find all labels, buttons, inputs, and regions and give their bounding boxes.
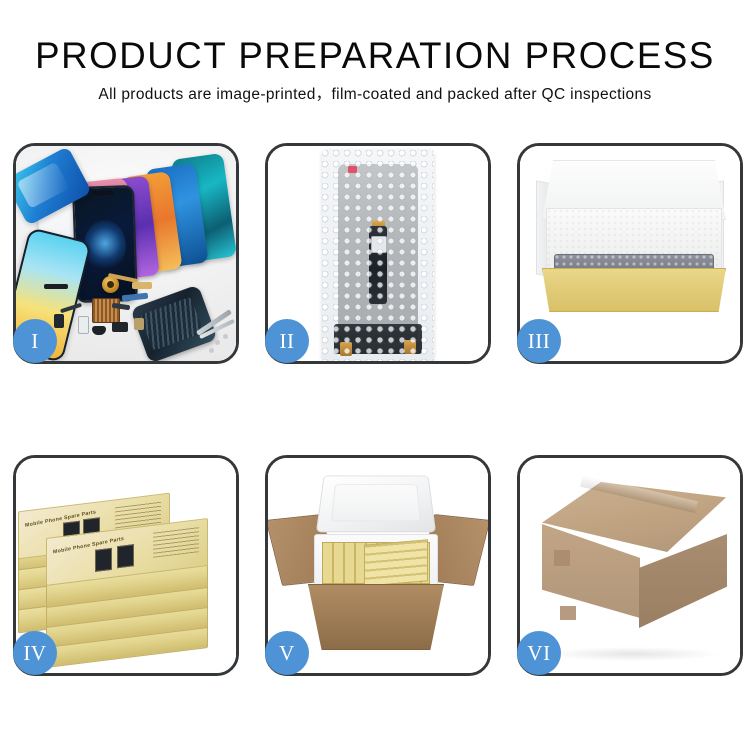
- box-print-label-front: Mobile Phone Spare Parts: [53, 536, 124, 556]
- step-badge-5: V: [265, 631, 309, 675]
- step-badge-6: VI: [517, 631, 561, 675]
- step-badge-3: III: [517, 319, 561, 363]
- process-step-panel-4[interactable]: Mobile Phone Spare Parts Mobile Phone Sp…: [13, 455, 239, 676]
- page-title: PRODUCT PREPARATION PROCESS: [4, 34, 747, 78]
- page-subtitle: All products are image-printed，film-coat…: [0, 84, 750, 106]
- process-steps-grid: I II: [13, 143, 740, 676]
- step-badge-4: IV: [13, 631, 57, 675]
- process-step-panel-1[interactable]: I: [13, 143, 239, 364]
- process-step-panel-6[interactable]: VI: [517, 455, 743, 676]
- process-step-panel-3[interactable]: III: [517, 143, 743, 364]
- step-badge-2: II: [265, 319, 309, 363]
- step-badge-1: I: [13, 319, 57, 363]
- page-header: PRODUCT PREPARATION PROCESS All products…: [0, 0, 750, 106]
- process-step-panel-5[interactable]: V: [265, 455, 491, 676]
- process-step-panel-2[interactable]: II: [265, 143, 491, 364]
